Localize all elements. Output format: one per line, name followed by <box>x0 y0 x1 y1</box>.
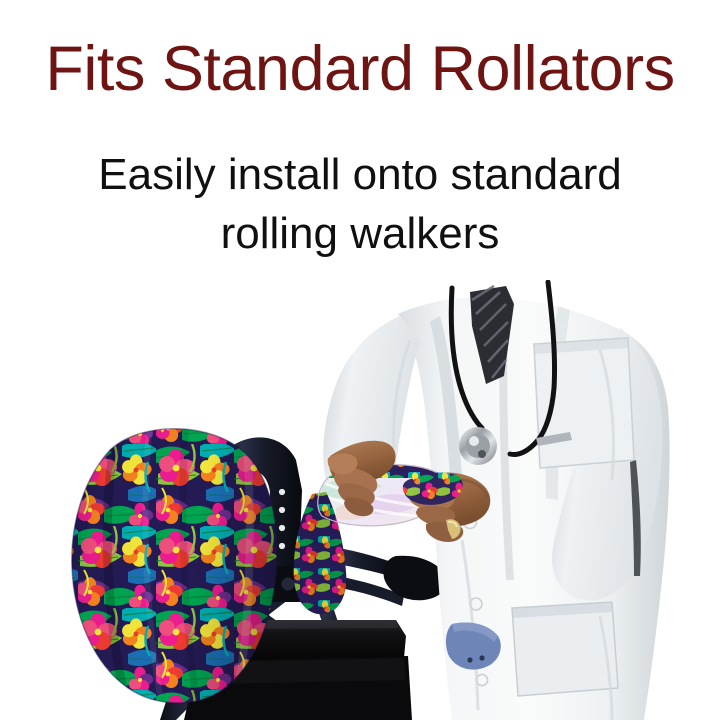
lab-coat-chest-pocket <box>534 338 634 468</box>
product-photo <box>0 280 720 720</box>
page-subtitle-line-2: rolling walkers <box>60 205 660 264</box>
promo-banner: Fits Standard Rollators Easily install o… <box>0 0 720 720</box>
page-title: Fits Standard Rollators <box>0 38 720 101</box>
lab-coat-side-pocket <box>512 602 618 696</box>
page-subtitle: Easily install onto standard rolling wal… <box>60 146 660 263</box>
page-subtitle-line-1: Easily install onto standard <box>60 146 660 205</box>
stethoscope-chestpiece <box>459 427 497 465</box>
